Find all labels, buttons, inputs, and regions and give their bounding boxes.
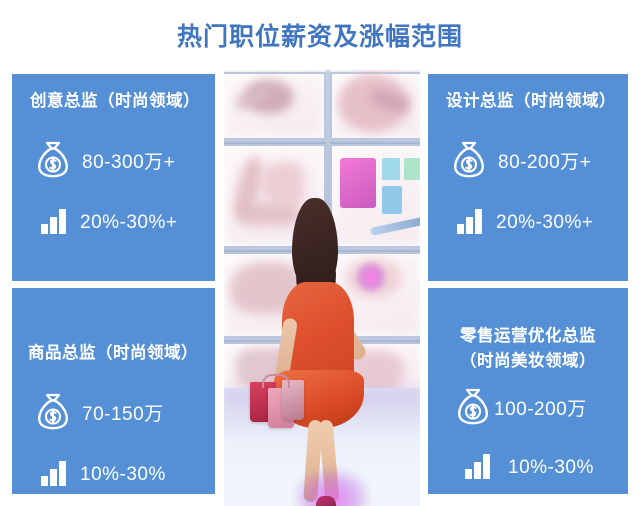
- salary-row: 80-200万+: [438, 141, 618, 184]
- card-design-director[interactable]: 设计总监（时尚领域） 80-200万+: [428, 74, 628, 281]
- high-heel-shoe: [316, 496, 336, 506]
- shopping-bags: [248, 374, 310, 436]
- page-title: 热门职位薪资及涨幅范围: [0, 20, 640, 54]
- card-title: 设计总监（时尚领域）: [438, 90, 618, 113]
- salary-row: 70-150万: [22, 393, 205, 436]
- card-title: 零售运营优化总监 （时尚美妆领域）: [438, 304, 618, 374]
- card-title-line-1: 零售运营优化总监: [438, 324, 618, 349]
- bar-chart-icon: [464, 451, 492, 484]
- money-bag-icon: [36, 141, 70, 184]
- bar-chart-icon: [456, 206, 484, 239]
- shopper-figure: [266, 198, 378, 498]
- bar-chart-icon: [40, 458, 68, 491]
- salary-value: 80-200万+: [498, 152, 591, 174]
- photo-content: [220, 70, 424, 506]
- infographic-page: 热门职位薪资及涨幅范围 创意总监（时尚领域） 80-300万+: [0, 0, 640, 506]
- growth-row: 20%-30%+: [22, 206, 205, 239]
- salary-row: 80-300万+: [22, 141, 205, 184]
- growth-row: 10%-30%: [438, 451, 618, 484]
- card-title: 创意总监（时尚领域）: [22, 90, 205, 113]
- card-retail-operations-director[interactable]: 零售运营优化总监 （时尚美妆领域） 100-200万: [428, 288, 628, 494]
- growth-row: 20%-30%+: [438, 206, 618, 239]
- card-creative-director[interactable]: 创意总监（时尚领域） 80-300万+: [12, 74, 215, 281]
- salary-value: 100-200万: [494, 399, 587, 421]
- salary-row: 100-200万: [438, 388, 618, 431]
- bar-chart-icon: [40, 206, 68, 239]
- money-bag-icon: [456, 388, 490, 431]
- card-title-line-2: （时尚美妆领域）: [438, 349, 618, 374]
- growth-value: 20%-30%+: [80, 212, 177, 234]
- money-bag-icon: [36, 393, 70, 436]
- salary-value: 80-300万+: [82, 152, 175, 174]
- shopper-photo: [220, 70, 424, 506]
- card-title: 商品总监（时尚领域）: [22, 304, 205, 365]
- growth-value: 10%-30%: [508, 457, 594, 479]
- money-bag-icon: [452, 141, 486, 184]
- growth-value: 20%-30%+: [496, 212, 593, 234]
- growth-row: 10%-30%: [22, 458, 205, 491]
- growth-value: 10%-30%: [80, 464, 166, 486]
- salary-value: 70-150万: [82, 404, 164, 426]
- touch-glow: [354, 260, 388, 294]
- card-merchandising-director[interactable]: 商品总监（时尚领域） 70-150万: [12, 288, 215, 494]
